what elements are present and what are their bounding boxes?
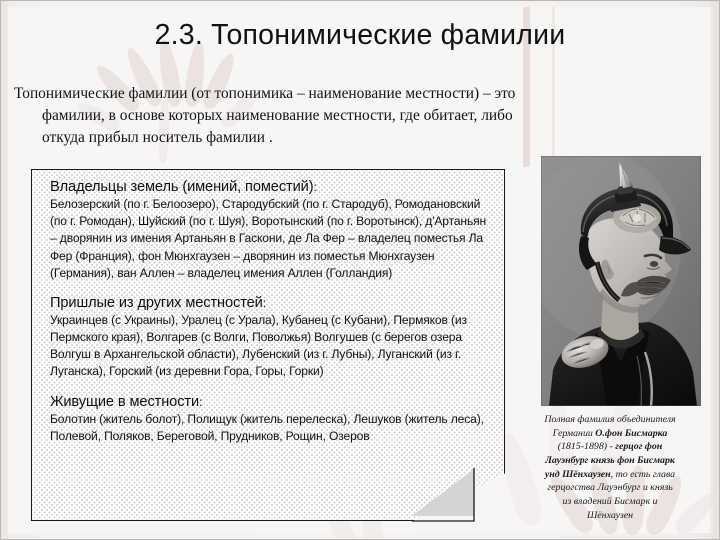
content-box: Владельцы земель (имений, поместий): Бел…: [31, 169, 505, 521]
section-spacer: [50, 383, 490, 394]
caption-line-3-title: герцог фон: [615, 441, 662, 452]
caption-line-6: герцогства Лауэнбург и князь: [547, 482, 672, 493]
presentation-slide: 2.3. Топонимические фамилии Топонимическ…: [0, 0, 720, 540]
section-heading: Владельцы земель (имений, поместий):: [50, 179, 490, 195]
caption-line-3-dates: (1815-1898) -: [558, 441, 616, 452]
section-body: Болотин (житель болот), Полищук (житель …: [50, 411, 490, 445]
section-heading: Пришлые из других местностей:: [50, 295, 490, 311]
caption-line-7: из владений Бисмарк и: [563, 496, 658, 507]
caption-line-5-bold: унд Шёнхаузен: [545, 469, 611, 480]
caption-line-8: Шёнхаузен: [587, 510, 633, 521]
section-newcomers: Пришлые из других местностей: Украинцев …: [50, 295, 490, 381]
section-heading: Живущие в местности:: [50, 394, 490, 410]
section-body: Украинцев (с Украины), Уралец (с Урала),…: [50, 312, 490, 381]
intro-paragraph: Топонимические фамилии (от топонимика – …: [14, 83, 696, 149]
section-heading-text: Владельцы земель (имений, поместий): [50, 179, 313, 195]
section-landowners: Владельцы земель (имений, поместий): Бел…: [50, 179, 490, 282]
intro-line-2: фамилии, в основе которых наименование м…: [14, 105, 696, 127]
section-heading-text: Пришлые из других местностей: [50, 295, 263, 311]
caption-line-2-name: О.фон Бисмарка: [595, 428, 667, 439]
section-heading-colon: :: [263, 296, 266, 310]
caption-line-5-rest: , то есть глава: [611, 469, 675, 480]
bismarck-portrait-illustration: [541, 156, 701, 406]
intro-line-1: Топонимические фамилии (от топонимика – …: [14, 85, 515, 102]
section-heading-colon: :: [313, 180, 316, 194]
caption-line-4: Лауэнбург князь фон Бисмарк: [545, 455, 675, 466]
section-heading-colon: :: [199, 395, 202, 409]
background-stripe-left: [1, 1, 8, 540]
photo-caption: Полная фамилия объединителя Германии О.ф…: [506, 413, 714, 522]
section-spacer: [50, 284, 490, 295]
photo-otto-von-bismarck: [541, 156, 701, 406]
caption-line-2-prefix: Германии: [553, 428, 596, 439]
section-body: Белозерский (по г. Белоозеро), Стародубс…: [50, 196, 490, 282]
intro-line-3: откуда прибыл носитель фамилии .: [14, 127, 696, 149]
caption-line-1: Полная фамилия объединителя: [544, 414, 675, 425]
section-residents: Живущие в местности: Болотин (житель бол…: [50, 394, 490, 445]
slide-title: 2.3. Топонимические фамилии: [1, 19, 719, 52]
section-heading-text: Живущие в местности: [50, 394, 199, 410]
